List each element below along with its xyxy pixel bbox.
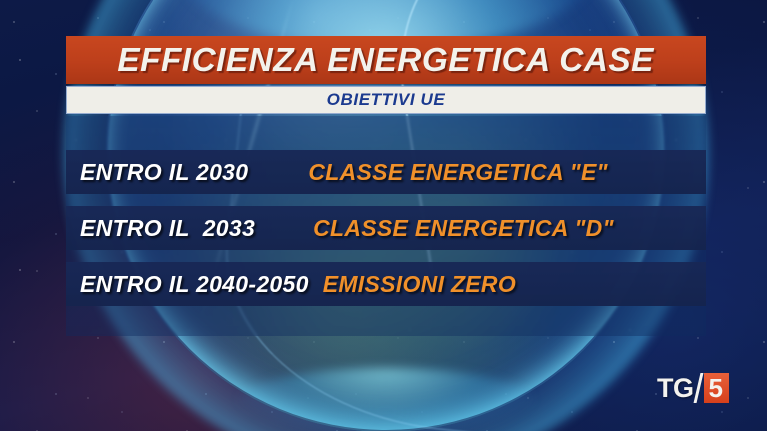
logo-text: TG: [657, 373, 694, 403]
row-label: ENTRO IL 2040-2050: [80, 271, 309, 298]
logo-number-badge: 5: [704, 373, 729, 403]
row-value: CLASSE ENERGETICA "D": [313, 215, 614, 242]
row-value: CLASSE ENERGETICA "E": [308, 159, 607, 186]
row-value: EMISSIONI ZERO: [323, 271, 516, 298]
title-banner: EFFICIENZA ENERGETICA CASE: [66, 36, 706, 84]
page-title: EFFICIENZA ENERGETICA CASE: [118, 41, 655, 79]
row-label: ENTRO IL 2030: [80, 159, 248, 186]
tv-news-graphic: EFFICIENZA ENERGETICA CASE OBIETTIVI UE …: [0, 0, 767, 431]
logo-slash-icon: [694, 373, 704, 403]
subtitle-text: OBIETTIVI UE: [327, 90, 446, 110]
row-label: ENTRO IL 2033: [80, 215, 255, 242]
table-row: ENTRO IL 2033 CLASSE ENERGETICA "D": [66, 206, 706, 250]
subtitle-bar: OBIETTIVI UE: [66, 86, 706, 114]
tg5-logo: TG 5: [657, 373, 729, 403]
table-row: ENTRO IL 2030 CLASSE ENERGETICA "E": [66, 150, 706, 194]
table-row: ENTRO IL 2040-2050 EMISSIONI ZERO: [66, 262, 706, 306]
logo-number: 5: [709, 374, 723, 402]
